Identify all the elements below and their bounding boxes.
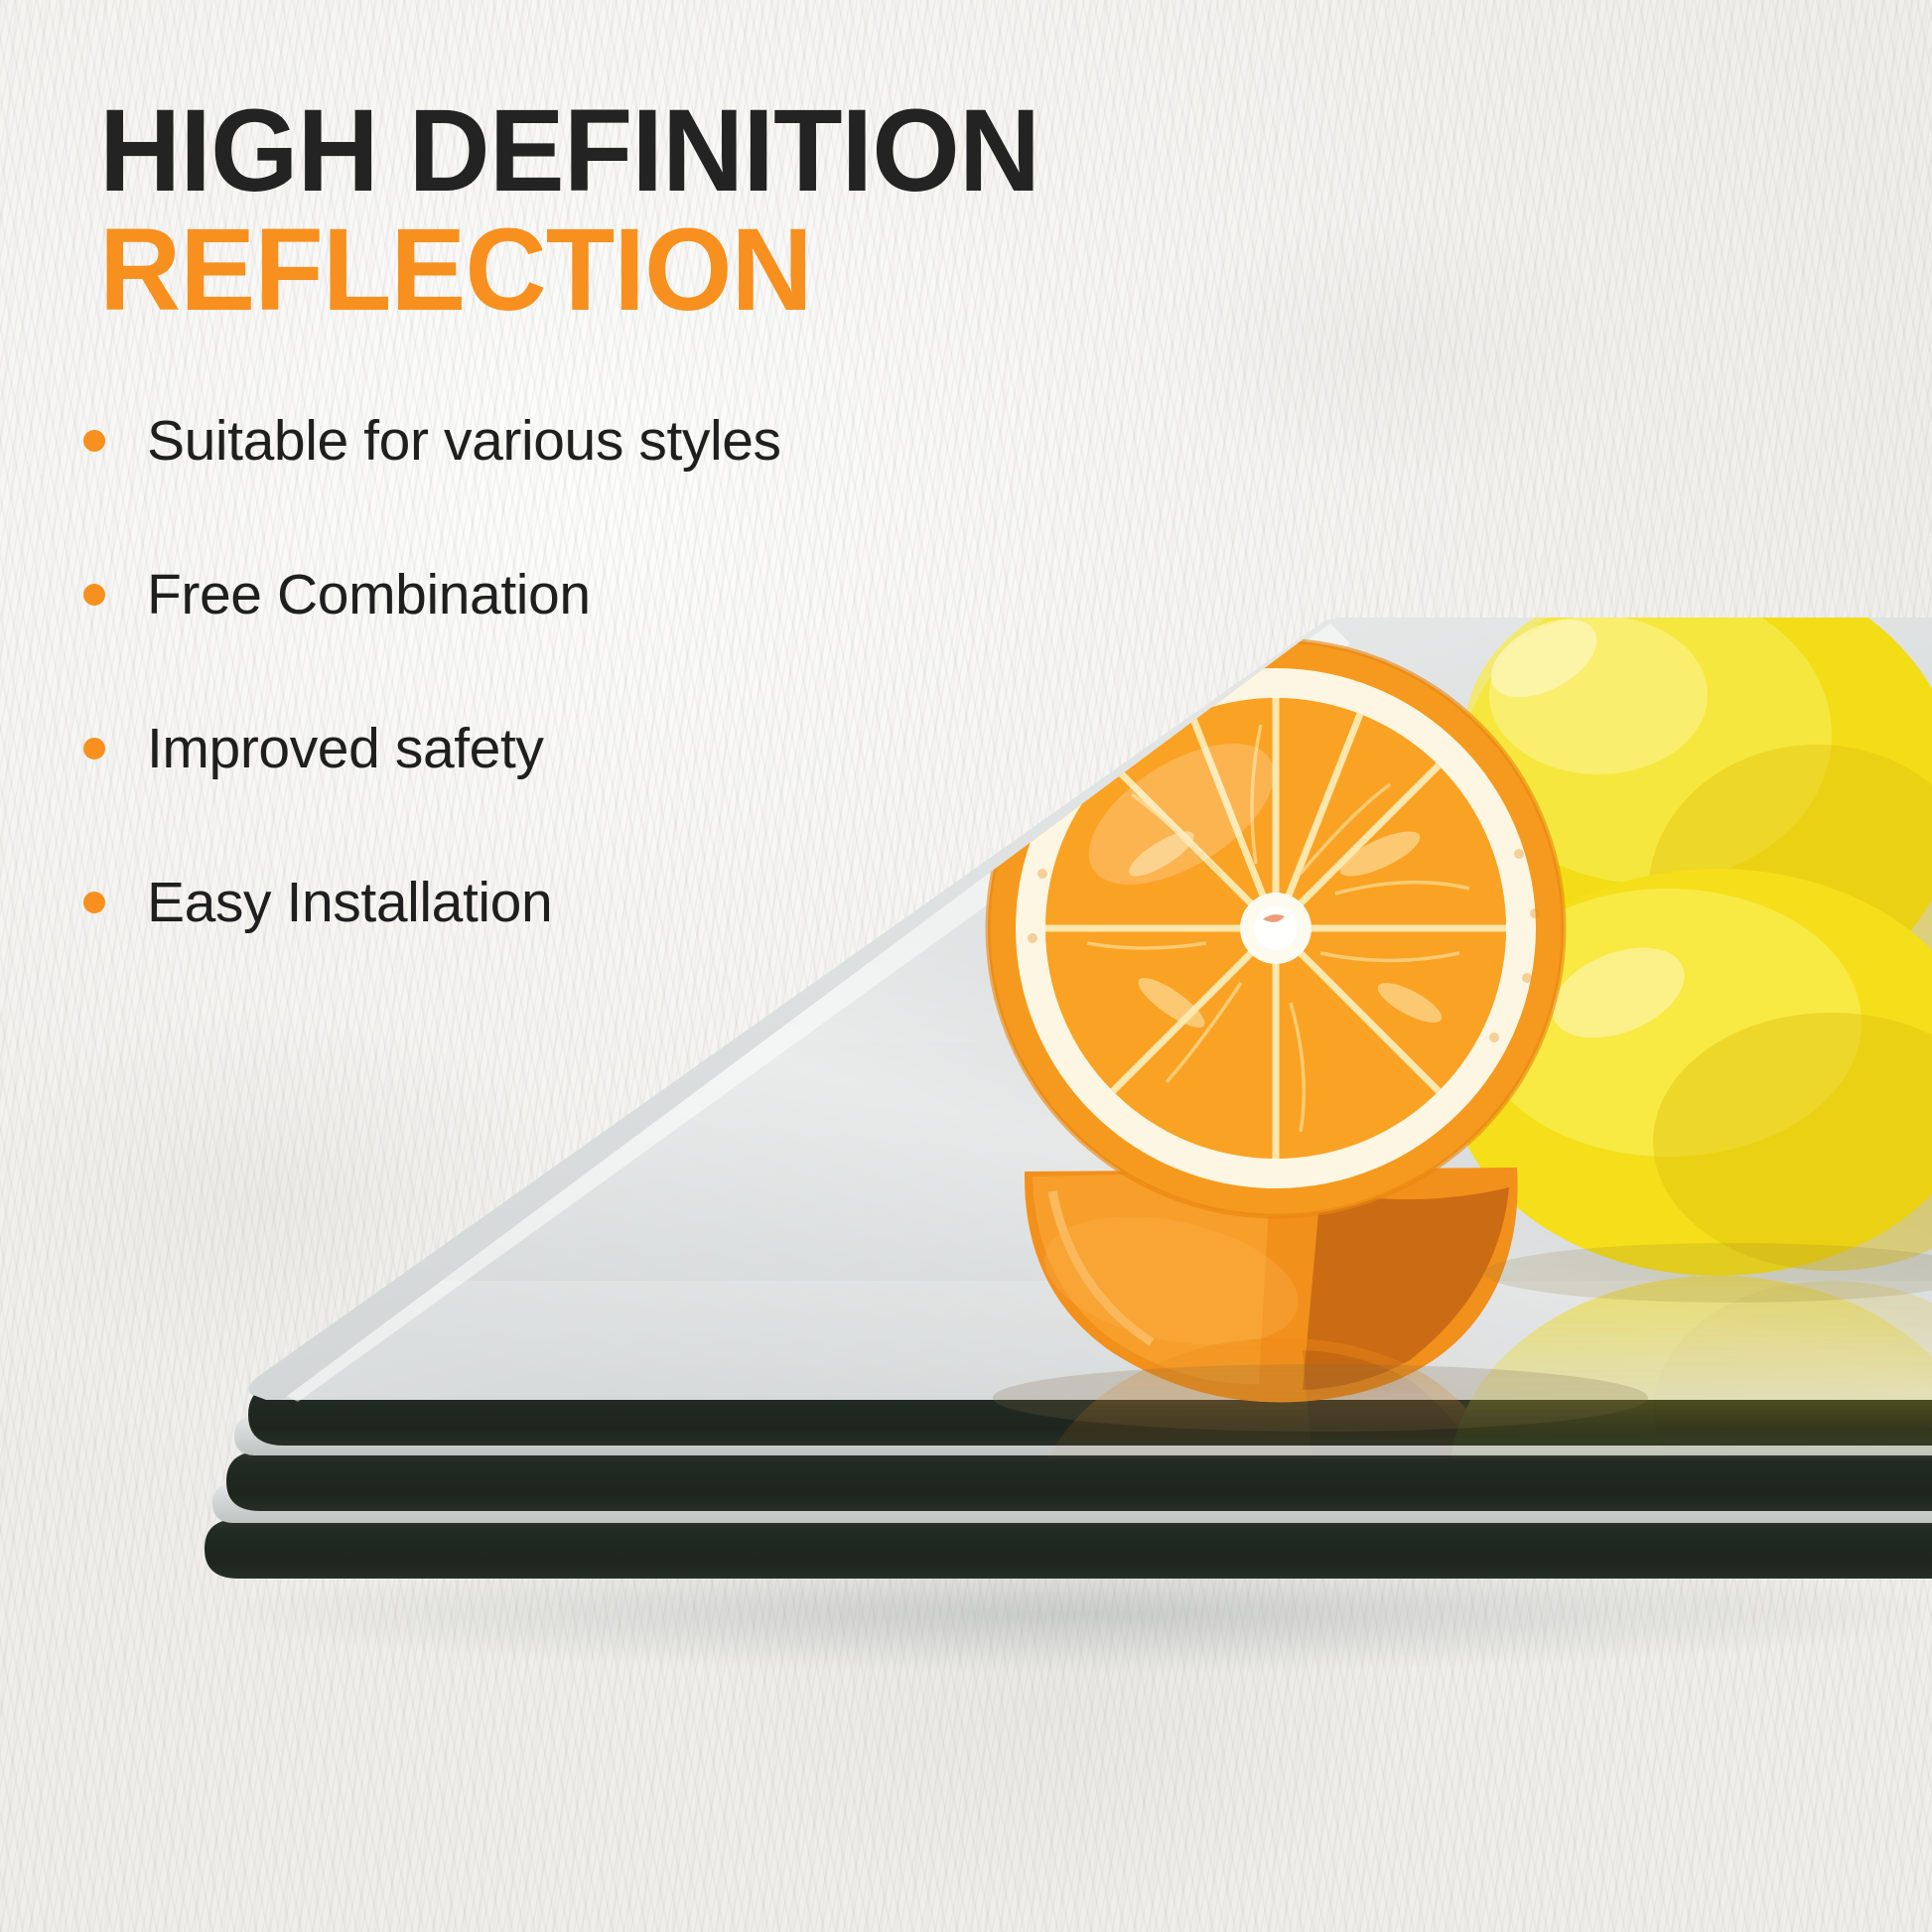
feature-label: Free Combination — [147, 562, 591, 627]
feature-list: Suitable for various styles Free Combina… — [83, 402, 781, 1018]
feature-label: Suitable for various styles — [147, 408, 781, 474]
list-item: Suitable for various styles — [83, 402, 781, 480]
headline-primary: HIGH DEFINITION — [99, 95, 1039, 207]
bullet-dot-icon — [83, 430, 105, 452]
bullet-dot-icon — [83, 738, 105, 759]
bullet-dot-icon — [83, 584, 105, 606]
list-item: Free Combination — [83, 556, 781, 633]
list-item: Improved safety — [83, 710, 781, 787]
product-feature-banner: HIGH DEFINITION REFLECTION Suitable for … — [0, 0, 1932, 1932]
headline-block: HIGH DEFINITION REFLECTION — [99, 95, 1073, 326]
headline-accent: REFLECTION — [99, 214, 1039, 326]
bullet-dot-icon — [83, 892, 105, 913]
feature-label: Improved safety — [147, 716, 544, 781]
list-item: Easy Installation — [83, 864, 781, 941]
feature-label: Easy Installation — [147, 870, 552, 935]
